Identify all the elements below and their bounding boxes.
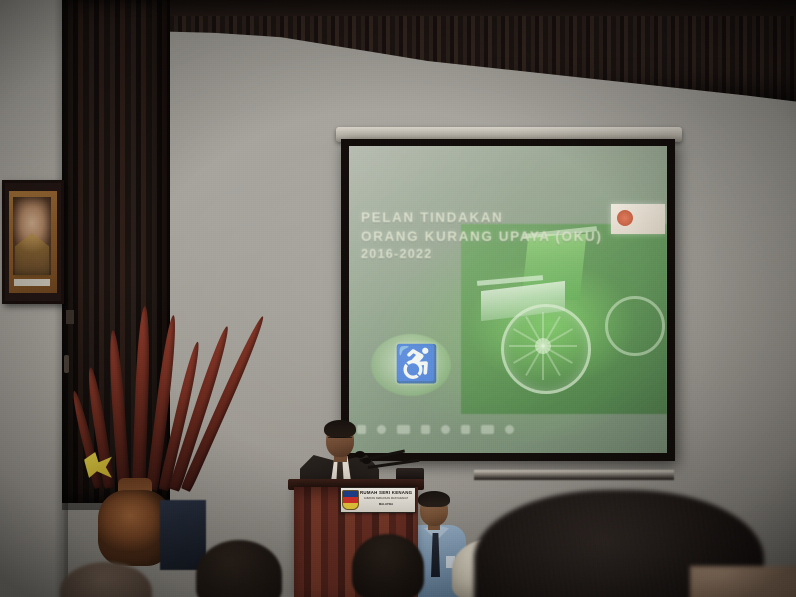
- lower-wall-frame-edge: [474, 470, 674, 480]
- podium-sign-subtitle: JABATAN KEBAJIKAN MASYARAKAT: [360, 497, 412, 500]
- slide-glare: [349, 146, 667, 453]
- podium-sign-country: MALAYSIA: [360, 502, 412, 506]
- speaker-glasses-icon: [328, 437, 352, 443]
- presentation-slide: ♿ PELAN TINDAKAN ORANG KURANG UPAYA (OKU…: [349, 146, 667, 453]
- portrait-plaque: [14, 279, 50, 286]
- framed-portrait: [2, 180, 64, 304]
- audience-shoulder: [690, 566, 796, 597]
- curtain-rail: [135, 0, 796, 16]
- seated-man-hair: [418, 491, 450, 507]
- projection-screen-surface: ♿ PELAN TINDAKAN ORANG KURANG UPAYA (OKU…: [349, 146, 667, 453]
- photo-scene: ♿ PELAN TINDAKAN ORANG KURANG UPAYA (OKU…: [0, 0, 796, 597]
- microphone-head: [362, 458, 371, 464]
- wall-hook: [64, 355, 69, 373]
- audience-head: [352, 534, 424, 597]
- wall-fixture: [66, 310, 74, 324]
- podium-sign-organization: RUMAH SERI KENANGAN CHERAS: [360, 490, 412, 496]
- national-crest-icon: [342, 490, 359, 510]
- speaker-hair: [324, 420, 356, 438]
- microphone-head: [355, 451, 365, 458]
